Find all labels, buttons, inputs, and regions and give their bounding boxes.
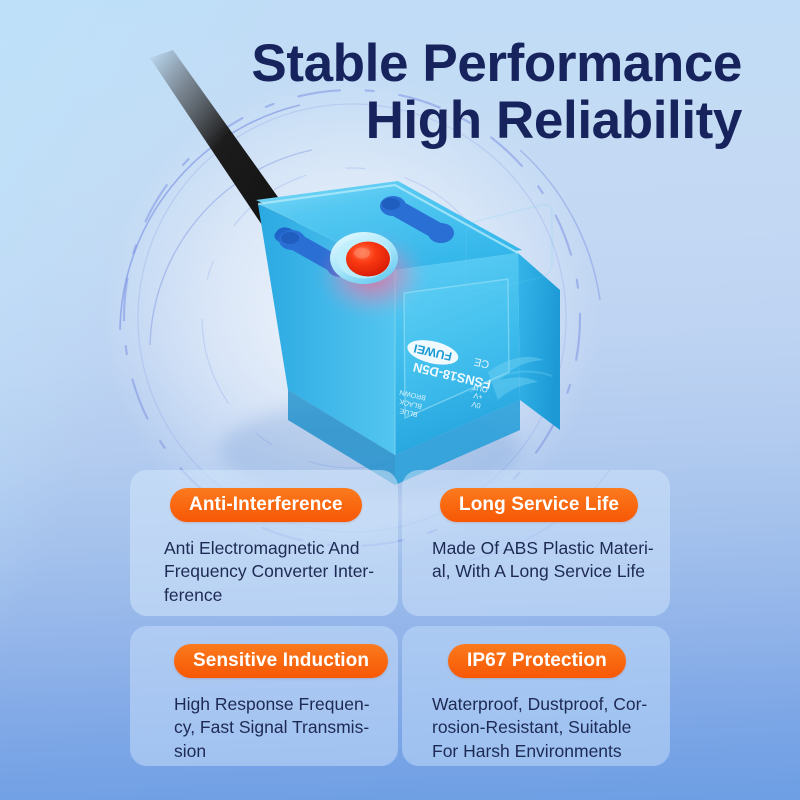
badge-wrap-anti-interference: Anti-Interference [146, 488, 382, 522]
svg-text:CE: CE [473, 355, 491, 370]
product-label: FSNS18-D5N +V OUT 0V BROWN BLACK BLUE CE… [392, 279, 509, 432]
feature-body-sensitive-induction: High Response Frequen- cy, Fast Signal T… [146, 693, 382, 763]
svg-text:FUWEI: FUWEI [412, 341, 453, 363]
svg-text:BLUE: BLUE [399, 406, 419, 417]
title-line-1: Stable Performance [62, 36, 742, 93]
led-indicator [320, 232, 424, 315]
product-feature-banner: FSNS18-D5N +V OUT 0V BROWN BLACK BLUE CE… [0, 0, 800, 800]
feature-badge-anti-interference: Anti-Interference [170, 488, 362, 522]
feature-card-anti-interference[interactable]: Anti-Interference Anti Electromagnetic A… [130, 470, 398, 616]
page-title: Stable Performance High Reliability [62, 36, 742, 149]
badge-wrap-long-service-life: Long Service Life [418, 488, 654, 522]
feature-badge-sensitive-induction: Sensitive Induction [174, 644, 388, 678]
title-line-2: High Reliability [62, 93, 742, 150]
feature-badge-ip67-protection: IP67 Protection [448, 644, 626, 678]
feature-card-sensitive-induction[interactable]: Sensitive Induction High Response Freque… [130, 626, 398, 766]
svg-text:OUT: OUT [471, 382, 489, 394]
feature-card-ip67-protection[interactable]: IP67 Protection Waterproof, Dustproof, C… [402, 626, 670, 766]
badge-wrap-sensitive-induction: Sensitive Induction [146, 644, 382, 678]
feature-badge-long-service-life: Long Service Life [440, 488, 638, 522]
badge-wrap-ip67-protection: IP67 Protection [418, 644, 654, 678]
embossed-logo [466, 202, 552, 400]
feature-body-long-service-life: Made Of ABS Plastic Materi- al, With A L… [418, 537, 654, 584]
feature-card-long-service-life[interactable]: Long Service Life Made Of ABS Plastic Ma… [402, 470, 670, 616]
label-model-text: FSNS18-D5N [412, 360, 493, 392]
mounting-slot-right [380, 196, 454, 243]
feature-body-anti-interference: Anti Electromagnetic And Frequency Conve… [146, 537, 382, 607]
svg-text:+V: +V [473, 391, 484, 402]
mounting-slot-left [274, 227, 353, 277]
feature-card-grid: Anti-Interference Anti Electromagnetic A… [130, 470, 670, 766]
feature-body-ip67-protection: Waterproof, Dustproof, Cor- rosion-Resis… [418, 693, 654, 763]
svg-text:0V: 0V [471, 400, 482, 411]
svg-text:BROWN: BROWN [399, 388, 427, 401]
svg-text:BLACK: BLACK [399, 397, 423, 409]
